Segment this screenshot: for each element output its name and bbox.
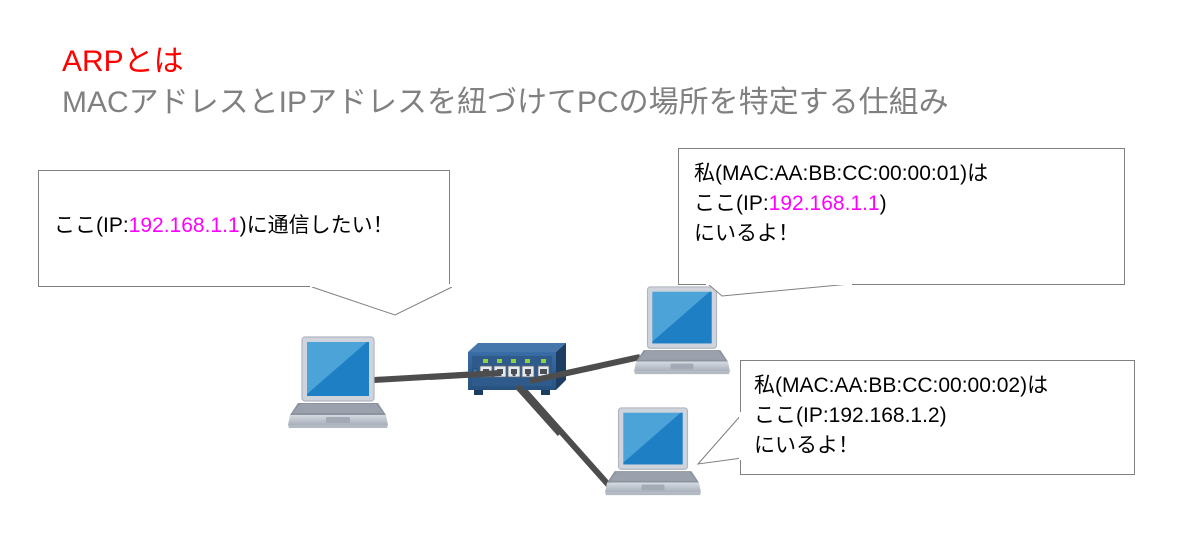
left-text-ip: 192.168.1.1: [129, 214, 240, 237]
title-line-2: MACアドレスとIPアドレスを紐づけてPCの場所を特定する仕組み: [62, 83, 949, 123]
bottom-right-line-2: ここ(IP:192.168.1.2): [754, 401, 1048, 431]
laptop-bottom-right[interactable]: [605, 408, 701, 495]
cable-overlap-bottom: [517, 386, 560, 434]
top-right-line-3: にいるよ！: [694, 219, 988, 249]
top-right-line-1: 私(MAC:AA:BB:CC:00:00:01)は: [694, 159, 988, 189]
bottom-right-line-3: にいるよ！: [754, 431, 1048, 461]
top-right-line-2-post: ): [880, 192, 887, 215]
left-text-pre: ここ(IP:: [54, 214, 129, 237]
laptop-middle-right[interactable]: [634, 287, 730, 374]
top-right-line-2: ここ(IP:192.168.1.1): [694, 189, 988, 219]
bottom-right-line-1: 私(MAC:AA:BB:CC:00:00:02)は: [754, 371, 1048, 401]
speech-bubble-bottom-right-text: 私(MAC:AA:BB:CC:00:00:02)は ここ(IP:192.168.…: [754, 371, 1048, 461]
title-line-1: ARPとは: [62, 44, 949, 80]
top-right-line-2-ip: 192.168.1.1: [769, 192, 880, 215]
speech-bubble-top-right-text: 私(MAC:AA:BB:CC:00:00:01)は ここ(IP:192.168.…: [694, 159, 988, 249]
page-title: ARPとは MACアドレスとIPアドレスを紐づけてPCの場所を特定する仕組み: [62, 44, 949, 123]
cable-overlap-left: [430, 373, 500, 377]
left-text-post: )に通信したい！: [240, 214, 394, 237]
laptop-left[interactable]: [288, 337, 388, 428]
top-right-line-2-pre: ここ(IP:: [694, 192, 769, 215]
speech-bubble-left-text: ここ(IP:192.168.1.1)に通信したい！: [54, 211, 454, 241]
